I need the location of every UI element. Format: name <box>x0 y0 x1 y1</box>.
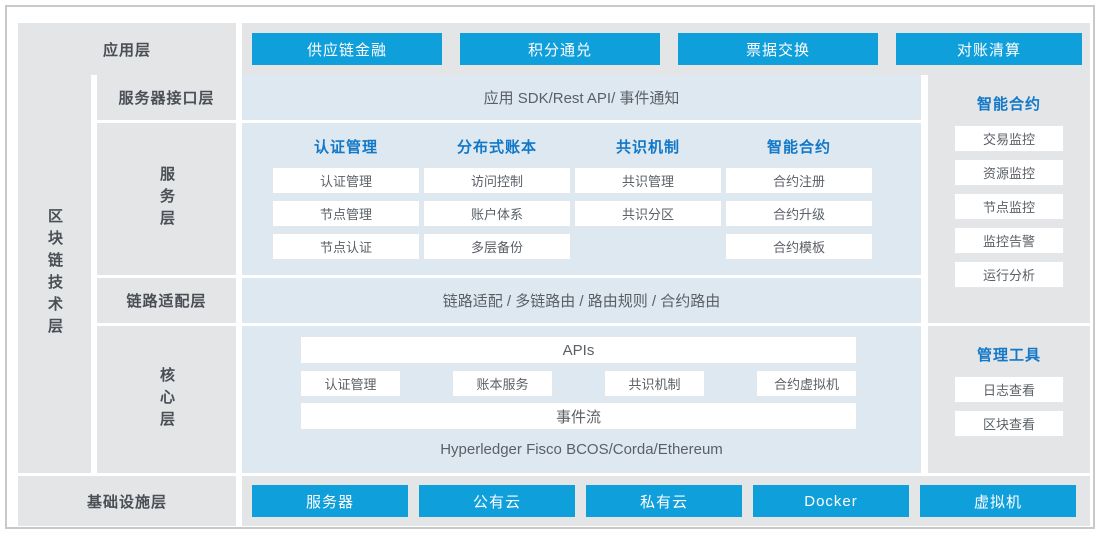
sidebar-management-tools-panel: 管理工具 日志查看 区块查看 <box>928 326 1090 473</box>
infra-button-public-cloud[interactable]: 公有云 <box>419 485 575 517</box>
service-item[interactable]: 共识管理 <box>574 167 722 194</box>
service-group-distributed-ledger: 分布式账本 访问控制 账户体系 多层备份 <box>423 131 571 260</box>
core-event-stream-bar[interactable]: 事件流 <box>300 402 857 430</box>
application-layer-apps: 供应链金融 积分通兑 票据交换 对账清算 <box>242 23 1090 75</box>
sidebar-item-operation-analysis[interactable]: 运行分析 <box>954 261 1064 288</box>
service-item[interactable]: 合约模板 <box>725 233 873 260</box>
sidebar-smart-contract-title: 智能合约 <box>928 91 1090 115</box>
service-item[interactable]: 多层备份 <box>423 233 571 260</box>
service-layer-label: 服务层 <box>97 123 236 275</box>
service-group-title: 智能合约 <box>725 131 873 161</box>
core-layer-content: APIs 认证管理 账本服务 共识机制 合约虚拟机 事件流 Hyperledge… <box>242 326 921 473</box>
service-group-consensus: 共识机制 共识管理 共识分区 <box>574 131 722 227</box>
infra-button-server[interactable]: 服务器 <box>252 485 408 517</box>
server-interface-layer-content: 应用 SDK/Rest API/ 事件通知 <box>242 75 921 120</box>
service-item[interactable]: 共识分区 <box>574 200 722 227</box>
service-item[interactable]: 访问控制 <box>423 167 571 194</box>
app-button-reconciliation-settlement[interactable]: 对账清算 <box>896 33 1082 65</box>
service-item[interactable]: 合约注册 <box>725 167 873 194</box>
service-item[interactable]: 节点管理 <box>272 200 420 227</box>
server-interface-layer-label: 服务器接口层 <box>97 75 236 120</box>
sidebar-item-transaction-monitoring[interactable]: 交易监控 <box>954 125 1064 152</box>
core-apis-bar[interactable]: APIs <box>300 336 857 364</box>
service-group-authentication: 认证管理 认证管理 节点管理 节点认证 <box>272 131 420 260</box>
service-group-title: 分布式账本 <box>423 131 571 161</box>
sidebar-item-node-monitoring[interactable]: 节点监控 <box>954 193 1064 220</box>
infra-button-private-cloud[interactable]: 私有云 <box>586 485 742 517</box>
application-layer-label: 应用层 <box>18 23 236 75</box>
link-adaptation-layer-label: 链路适配层 <box>97 278 236 323</box>
blockchain-tech-layer-spine: 区块链技术层 <box>18 75 91 473</box>
core-module-consensus[interactable]: 共识机制 <box>604 370 705 397</box>
sidebar-item-log-viewer[interactable]: 日志查看 <box>954 376 1064 403</box>
diagram-frame: 应用层 供应链金融 积分通兑 票据交换 对账清算 区块链技术层 服务器接口层 服… <box>5 5 1095 529</box>
service-layer-content: 认证管理 认证管理 节点管理 节点认证 分布式账本 访问控制 账户体系 多层备份… <box>242 123 921 275</box>
sidebar-smart-contract-panel: 智能合约 交易监控 资源监控 节点监控 监控告警 运行分析 <box>928 75 1090 323</box>
infrastructure-layer-label: 基础设施层 <box>18 476 236 526</box>
infrastructure-layer-items: 服务器 公有云 私有云 Docker 虚拟机 <box>242 476 1090 526</box>
service-item[interactable]: 账户体系 <box>423 200 571 227</box>
core-layer-label: 核心层 <box>97 326 236 473</box>
service-group-smart-contract: 智能合约 合约注册 合约升级 合约模板 <box>725 131 873 260</box>
service-group-title: 共识机制 <box>574 131 722 161</box>
service-item[interactable]: 节点认证 <box>272 233 420 260</box>
core-module-contract-vm[interactable]: 合约虚拟机 <box>756 370 857 397</box>
link-adaptation-layer-content: 链路适配 / 多链路由 / 路由规则 / 合约路由 <box>242 278 921 323</box>
app-button-bill-exchange[interactable]: 票据交换 <box>678 33 878 65</box>
service-item[interactable]: 合约升级 <box>725 200 873 227</box>
app-button-points-exchange[interactable]: 积分通兑 <box>460 33 660 65</box>
service-group-title: 认证管理 <box>272 131 420 161</box>
sidebar-item-resource-monitoring[interactable]: 资源监控 <box>954 159 1064 186</box>
sidebar-management-tools-title: 管理工具 <box>928 342 1090 366</box>
infra-button-virtual-machine[interactable]: 虚拟机 <box>920 485 1076 517</box>
core-module-ledger-service[interactable]: 账本服务 <box>452 370 553 397</box>
app-button-supply-chain-finance[interactable]: 供应链金融 <box>252 33 442 65</box>
sidebar-item-block-explorer[interactable]: 区块查看 <box>954 410 1064 437</box>
sidebar-item-monitoring-alerts[interactable]: 监控告警 <box>954 227 1064 254</box>
service-item[interactable]: 认证管理 <box>272 167 420 194</box>
core-base-platforms: Hyperledger Fisco BCOS/Corda/Ethereum <box>242 434 921 464</box>
architecture-diagram: 应用层 供应链金融 积分通兑 票据交换 对账清算 区块链技术层 服务器接口层 服… <box>0 0 1100 534</box>
infra-button-docker[interactable]: Docker <box>753 485 909 517</box>
core-module-authentication[interactable]: 认证管理 <box>300 370 401 397</box>
